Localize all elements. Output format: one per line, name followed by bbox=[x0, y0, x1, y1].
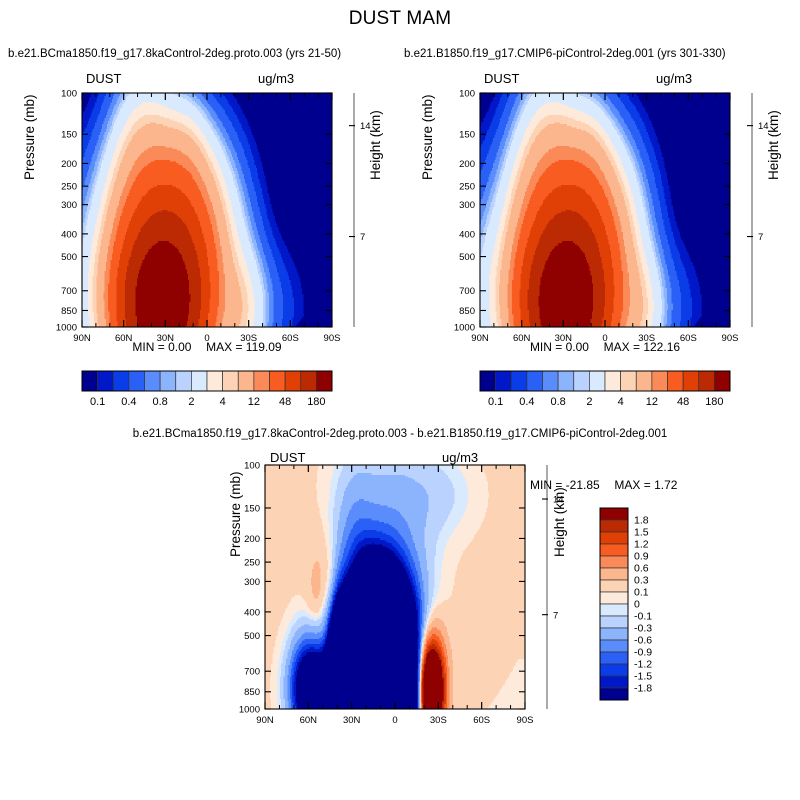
contour-field-diff bbox=[265, 465, 525, 709]
colorbar-tick-label: 1.5 bbox=[634, 527, 649, 539]
x-tick-label: 90N bbox=[256, 715, 274, 726]
y-tick-label: 200 bbox=[244, 534, 260, 545]
colorbar-tick-label: 1.8 bbox=[634, 515, 649, 527]
colorbar[interactable]: 1.81.51.20.90.60.30.10-0.1-0.3-0.6-0.9-1… bbox=[600, 508, 652, 700]
colorbar-cell bbox=[600, 652, 628, 664]
colorbar-cell bbox=[600, 616, 628, 628]
colorbar-cell bbox=[600, 664, 628, 676]
colorbar-vertical-diff[interactable]: 1.81.51.20.90.60.30.10-0.1-0.3-0.6-0.9-1… bbox=[560, 380, 800, 740]
colorbar-cell bbox=[600, 580, 628, 592]
colorbar-cell bbox=[600, 676, 628, 688]
colorbar-cell bbox=[600, 568, 628, 580]
y-tick-label: 150 bbox=[244, 503, 260, 514]
y-tick-label: 850 bbox=[244, 687, 260, 698]
y-tick-label: 300 bbox=[244, 577, 260, 588]
y-tick-label: 400 bbox=[244, 607, 260, 618]
y-tick-label: 1000 bbox=[239, 704, 260, 715]
x-tick-label: 60N bbox=[300, 715, 318, 726]
colorbar-tick-label: 1.2 bbox=[634, 539, 649, 551]
y-tick-label: 700 bbox=[244, 667, 260, 678]
colorbar-tick-label: 0.1 bbox=[634, 587, 649, 599]
colorbar-horizontal-right[interactable]: 0.10.40.8241248180 bbox=[398, 0, 798, 420]
colorbar-tick-label: -0.1 bbox=[634, 611, 652, 623]
colorbar-cell bbox=[600, 592, 628, 604]
colorbar-cell bbox=[600, 532, 628, 544]
y-tick-label: 250 bbox=[244, 557, 260, 568]
plot-area-diff[interactable]: 100150200250300400500700850100090N60N30N… bbox=[0, 380, 560, 760]
colorbar-cell bbox=[600, 544, 628, 556]
colorbar-cell bbox=[600, 628, 628, 640]
x-tick-label: 0 bbox=[392, 715, 397, 726]
y-tick-label: 100 bbox=[244, 460, 260, 471]
colorbar-cell bbox=[600, 556, 628, 568]
colorbar-cell bbox=[600, 604, 628, 616]
colorbar-horizontal-left[interactable]: 0.10.40.8241248180 bbox=[0, 0, 400, 420]
colorbar-tick-label: -0.9 bbox=[634, 647, 652, 659]
x-tick-label: 90S bbox=[517, 715, 534, 726]
colorbar-cell bbox=[600, 688, 628, 700]
y2-tick-label: 7 bbox=[553, 610, 558, 621]
x-tick-label: 30S bbox=[430, 715, 447, 726]
colorbar-tick-label: -1.2 bbox=[634, 659, 652, 671]
colorbar-tick-label: 0.9 bbox=[634, 551, 649, 563]
x-tick-label: 30N bbox=[343, 715, 361, 726]
colorbar-tick-label: -1.5 bbox=[634, 671, 652, 683]
colorbar-cell bbox=[600, 640, 628, 652]
colorbar-tick-label: 0.6 bbox=[634, 563, 649, 575]
y-tick-label: 500 bbox=[244, 631, 260, 642]
colorbar-tick-label: -0.6 bbox=[634, 635, 652, 647]
colorbar-tick-label: 0 bbox=[634, 599, 640, 611]
x-tick-label: 60S bbox=[473, 715, 490, 726]
colorbar-tick-label: -1.8 bbox=[634, 683, 652, 695]
colorbar-cell bbox=[600, 520, 628, 532]
colorbar-tick-label: 0.3 bbox=[634, 575, 649, 587]
colorbar-cell bbox=[600, 508, 628, 520]
colorbar-tick-label: -0.3 bbox=[634, 623, 652, 635]
